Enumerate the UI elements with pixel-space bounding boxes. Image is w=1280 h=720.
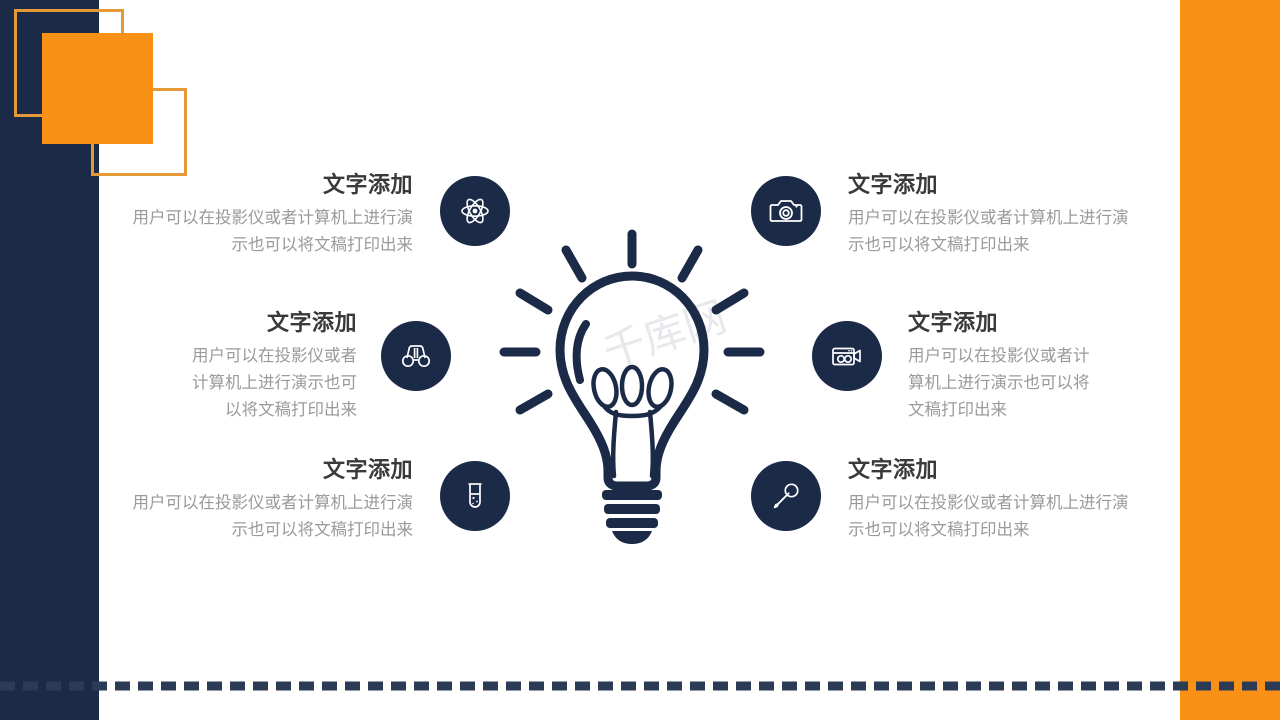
text-block-top-right: 文字添加 用户可以在投影仪或者计算机上进行演示也可以将文稿打印出来	[848, 173, 1133, 258]
text-block-body: 用户可以在投影仪或者计算机上进行演示也可以将文稿打印出来	[180, 342, 357, 424]
microphone-icon	[770, 480, 802, 512]
text-block-body: 用户可以在投影仪或者计算机上进行演示也可以将文稿打印出来	[848, 489, 1133, 543]
atom-icon	[459, 195, 491, 227]
text-block-body: 用户可以在投影仪或者计算机上进行演示也可以将文稿打印出来	[128, 204, 413, 258]
text-block-title: 文字添加	[848, 458, 1133, 485]
text-block-title: 文字添加	[128, 458, 413, 485]
text-block-body: 用户可以在投影仪或者计算机上进行演示也可以将文稿打印出来	[128, 489, 413, 543]
video-camera-icon	[830, 339, 864, 373]
slide-canvas: 千库网	[0, 0, 1280, 720]
text-block-body: 用户可以在投影仪或者计算机上进行演示也可以将文稿打印出来	[908, 342, 1105, 424]
text-block-title: 文字添加	[128, 173, 413, 200]
text-block-middle-right: 文字添加 用户可以在投影仪或者计算机上进行演示也可以将文稿打印出来	[908, 311, 1105, 423]
icon-bubble-middle-left[interactable]	[381, 321, 451, 391]
lightbulb-icon	[498, 228, 766, 544]
icon-bubble-middle-right[interactable]	[812, 321, 882, 391]
text-block-body: 用户可以在投影仪或者计算机上进行演示也可以将文稿打印出来	[848, 204, 1133, 258]
icon-bubble-bottom-left[interactable]	[440, 461, 510, 531]
icon-bubble-top-left[interactable]	[440, 176, 510, 246]
icon-bubble-top-right[interactable]	[751, 176, 821, 246]
text-block-title: 文字添加	[180, 311, 357, 338]
binoculars-icon	[400, 340, 432, 372]
test-tube-icon	[459, 480, 491, 512]
text-block-title: 文字添加	[848, 173, 1133, 200]
text-block-bottom-left: 文字添加 用户可以在投影仪或者计算机上进行演示也可以将文稿打印出来	[128, 458, 413, 543]
text-block-bottom-right: 文字添加 用户可以在投影仪或者计算机上进行演示也可以将文稿打印出来	[848, 458, 1133, 543]
camera-icon	[769, 194, 803, 228]
icon-bubble-bottom-right[interactable]	[751, 461, 821, 531]
text-block-middle-left: 文字添加 用户可以在投影仪或者计算机上进行演示也可以将文稿打印出来	[180, 311, 357, 423]
content-stage: 千库网	[0, 0, 1280, 720]
text-block-top-left: 文字添加 用户可以在投影仪或者计算机上进行演示也可以将文稿打印出来	[128, 173, 413, 258]
text-block-title: 文字添加	[908, 311, 1105, 338]
